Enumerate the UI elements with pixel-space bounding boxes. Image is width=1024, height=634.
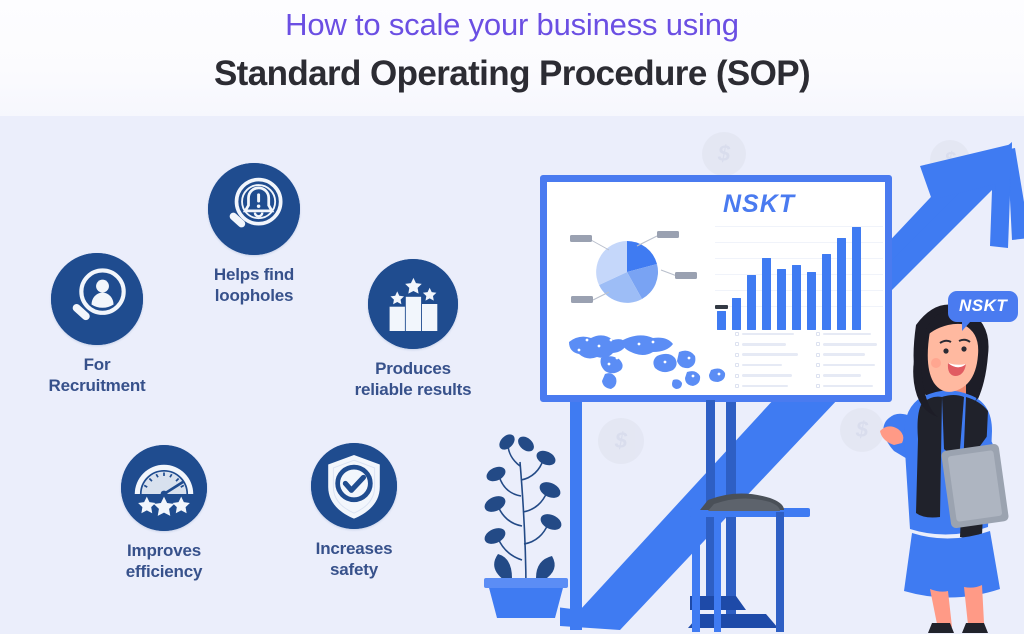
feature-label: Increases safety <box>283 538 425 580</box>
bar-chart <box>715 220 883 330</box>
feature-label: Produces reliable results <box>333 358 493 400</box>
feature-for-recruitment[interactable]: For Recruitment <box>18 253 176 396</box>
podium-desk <box>690 400 860 634</box>
bar <box>792 265 801 330</box>
bar-target-marker <box>715 305 728 309</box>
checkbox-icon <box>816 384 820 388</box>
checkbox-icon <box>816 363 820 367</box>
list-item <box>735 384 804 388</box>
bar <box>762 258 771 330</box>
checkbox-icon <box>735 353 739 357</box>
checkbox-icon <box>735 342 739 346</box>
checkbox-icon <box>816 332 820 336</box>
page-header: How to scale your business using Standar… <box>0 0 1024 116</box>
feature-helps-find-loopholes[interactable]: Helps find loopholes <box>178 163 330 306</box>
list-item <box>735 363 804 367</box>
bar <box>822 254 831 330</box>
presentation-whiteboard: NSKT <box>540 175 892 402</box>
potted-plant <box>470 420 580 620</box>
page-title: Standard Operating Procedure (SOP) <box>0 52 1024 96</box>
feature-label: Helps find loopholes <box>178 264 330 306</box>
bar <box>732 298 741 330</box>
bar <box>717 311 726 330</box>
checkbox-icon <box>735 374 739 378</box>
pie-chart <box>565 222 705 320</box>
feature-produces-reliable-results[interactable]: Produces reliable results <box>333 259 493 400</box>
feature-improves-efficiency[interactable]: Improves efficiency <box>90 445 238 582</box>
checkbox-icon <box>816 342 820 346</box>
checkbox-icon <box>816 353 820 357</box>
world-map-graphic <box>561 324 731 394</box>
feature-increases-safety[interactable]: Increases safety <box>283 443 425 580</box>
feature-label: For Recruitment <box>18 354 176 396</box>
magnifier-person-icon <box>51 253 143 345</box>
podium-stars-icon <box>368 259 458 349</box>
page-eyebrow: How to scale your business using <box>0 6 1024 44</box>
whiteboard-logo: NSKT <box>547 190 885 219</box>
presenter-woman <box>860 285 1024 634</box>
feature-label: Improves efficiency <box>90 540 238 582</box>
checklist-column <box>735 332 804 396</box>
list-item <box>735 342 804 346</box>
list-item <box>735 332 804 336</box>
speech-bubble: NSKT <box>948 291 1018 322</box>
checkbox-icon <box>816 374 820 378</box>
infographic-canvas: $ $ $ $ How to scale your business using… <box>0 0 1024 634</box>
bar <box>747 275 756 330</box>
shield-check-icon <box>311 443 397 529</box>
checkbox-icon <box>735 332 739 336</box>
bar <box>837 238 846 330</box>
magnifier-alert-bell-icon <box>208 163 300 255</box>
checkbox-icon <box>735 363 739 367</box>
checkbox-icon <box>735 384 739 388</box>
bar <box>807 272 816 330</box>
list-item <box>735 374 804 378</box>
bar <box>777 269 786 330</box>
speedometer-stars-icon <box>121 445 207 531</box>
list-item <box>735 353 804 357</box>
